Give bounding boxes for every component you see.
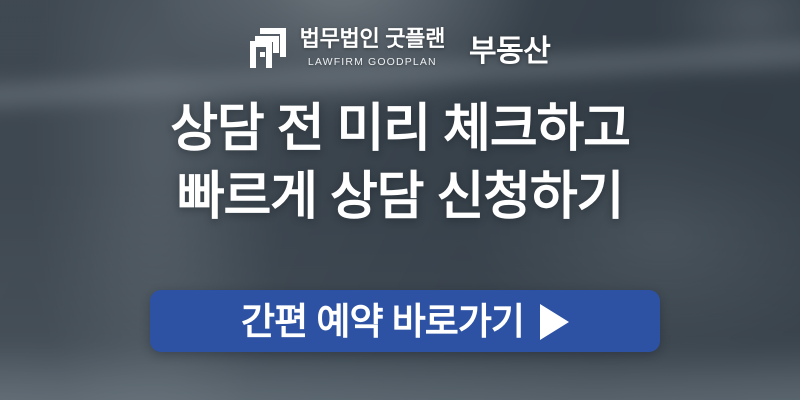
brand-name-korean: 법무법인 굿플랜: [300, 28, 445, 50]
headline-line-1: 상담 전 미리 체크하고: [170, 96, 630, 164]
brand-names: 법무법인 굿플랜 LAWFIRM GOODPLAN: [300, 28, 445, 68]
brand-lockup: 법무법인 굿플랜 LAWFIRM GOODPLAN 부동산: [250, 24, 551, 72]
goodplan-geometric-logo-icon: [250, 28, 286, 68]
reservation-cta-button[interactable]: 간편 예약 바로가기: [150, 290, 660, 352]
play-triangle-right-icon: [540, 304, 569, 340]
promo-banner: 법무법인 굿플랜 LAWFIRM GOODPLAN 부동산 상담 전 미리 체크…: [0, 0, 800, 400]
cta-label: 간편 예약 바로가기: [241, 303, 524, 340]
brand-category-label: 부동산: [469, 26, 550, 70]
headline: 상담 전 미리 체크하고 빠르게 상담 신청하기: [170, 96, 630, 231]
brand-name-english: LAWFIRM GOODPLAN: [308, 57, 437, 68]
headline-line-2: 빠르게 상담 신청하기: [170, 164, 630, 232]
